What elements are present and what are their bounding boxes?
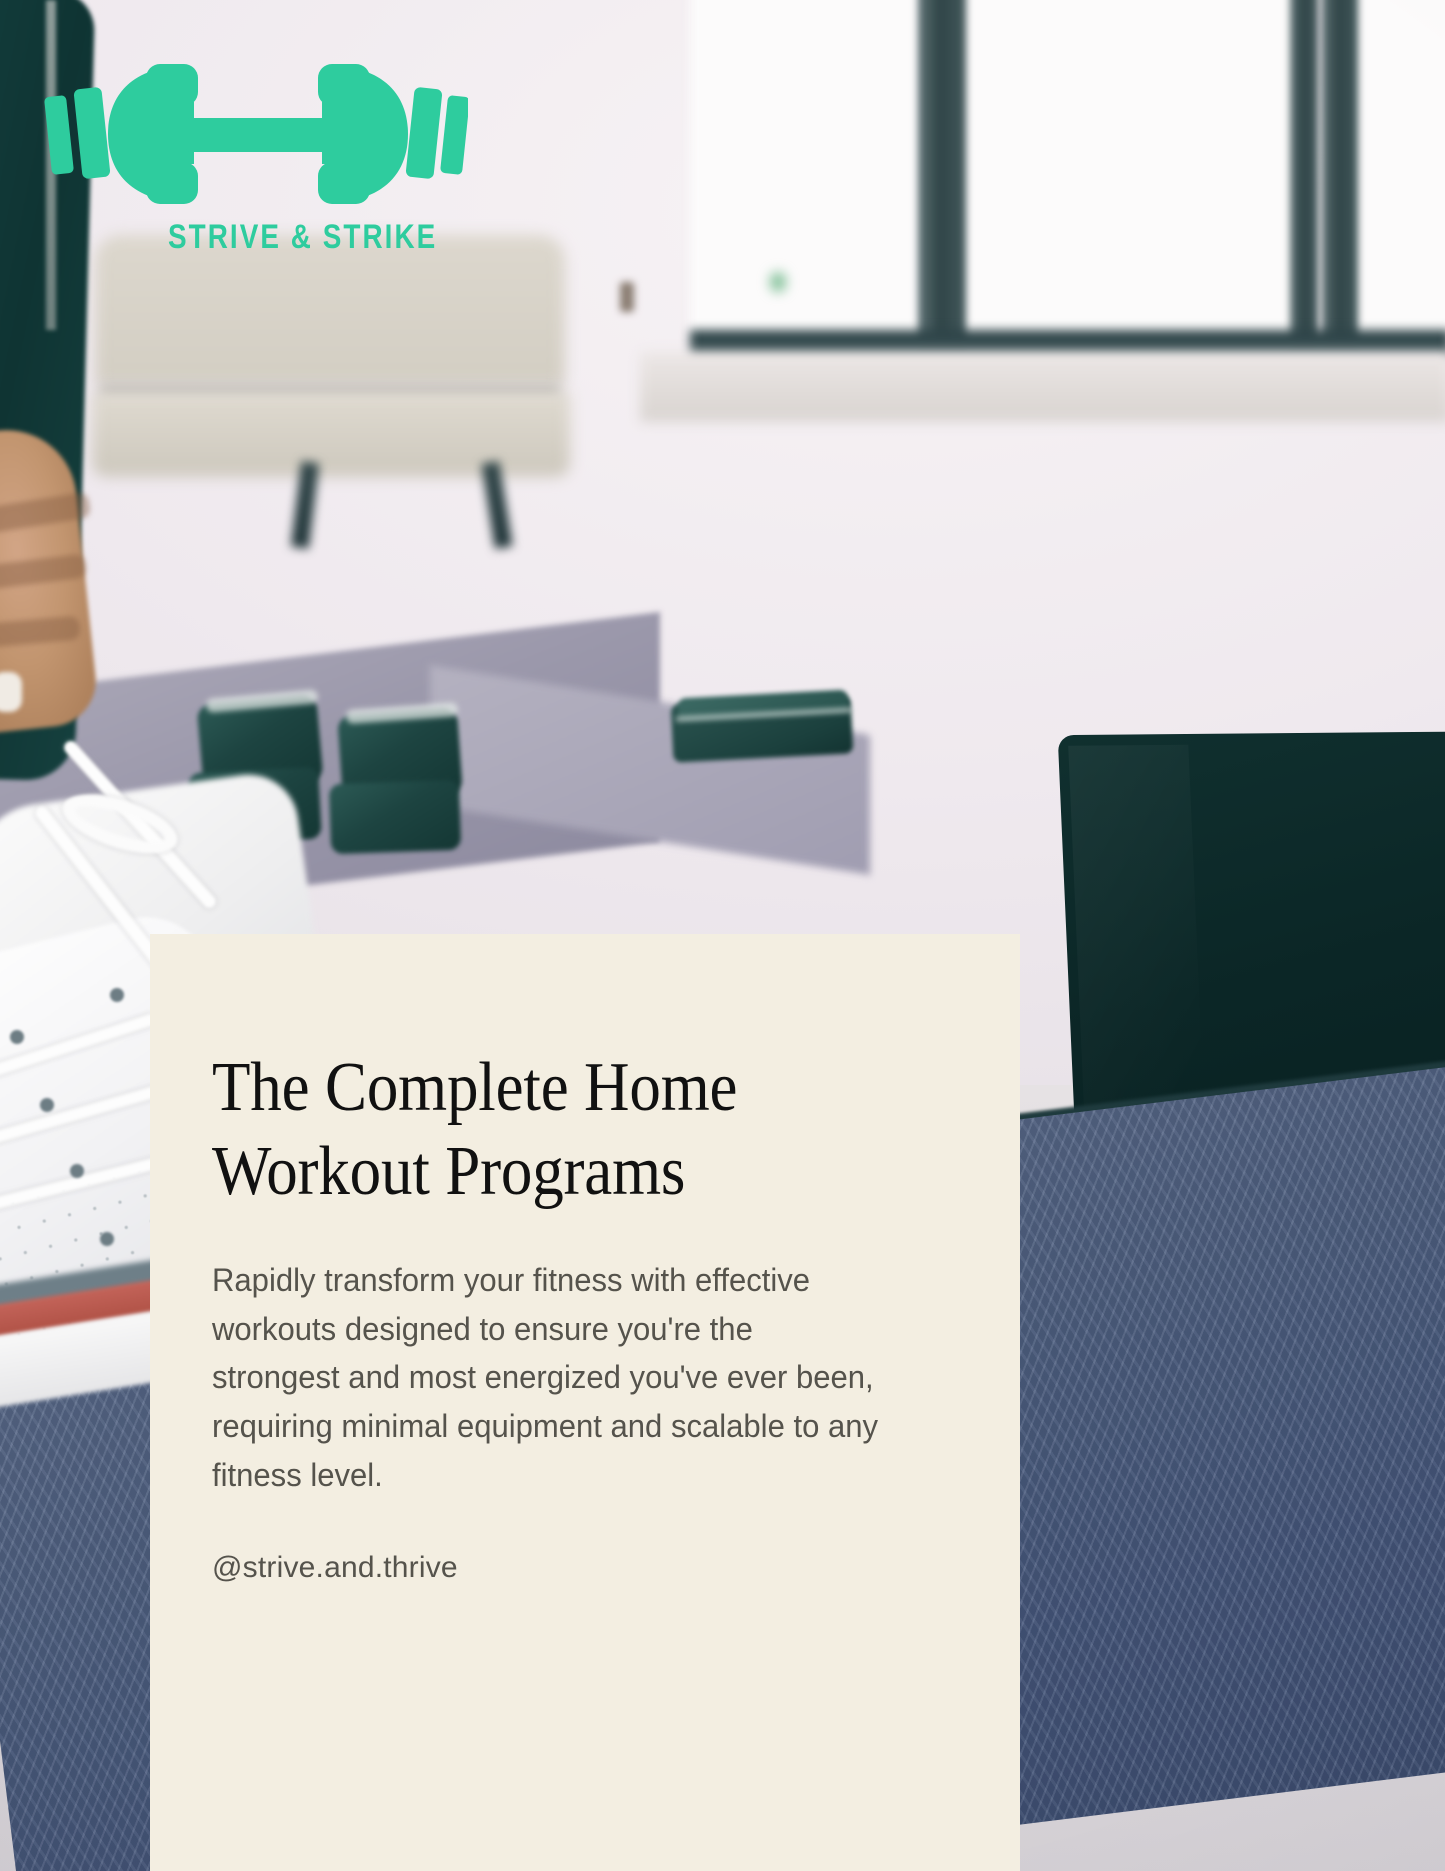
brand-logo: STRIVE & STRIKE (38, 36, 468, 236)
sill-plant (770, 272, 786, 292)
shoe-eyelet (40, 1098, 54, 1112)
shoe-eyelet (100, 1232, 114, 1246)
shoe-eyelet (110, 988, 124, 1002)
dumbbell-right-lower (329, 780, 461, 854)
fingernail (0, 672, 22, 712)
barbell-gripped-by-two-hands-icon (38, 36, 468, 216)
sofa-backrest (95, 235, 565, 385)
shoe-eyelet (70, 1164, 84, 1178)
shoe-eyelet (10, 1030, 24, 1044)
page-title: The Complete Home Workout Programs (212, 1046, 951, 1214)
content-card: The Complete Home Workout Programs Rapid… (150, 934, 1020, 1871)
social-handle: @strive.and.thrive (212, 1551, 958, 1585)
sill-object (620, 282, 634, 312)
description-text: Rapidly transform your fitness with effe… (212, 1256, 885, 1499)
window-ledge (640, 352, 1445, 422)
brand-wordmark: STRIVE & STRIKE (168, 218, 437, 257)
poster-canvas: STRIVE & STRIKE The Complete Home Workou… (0, 0, 1445, 1871)
